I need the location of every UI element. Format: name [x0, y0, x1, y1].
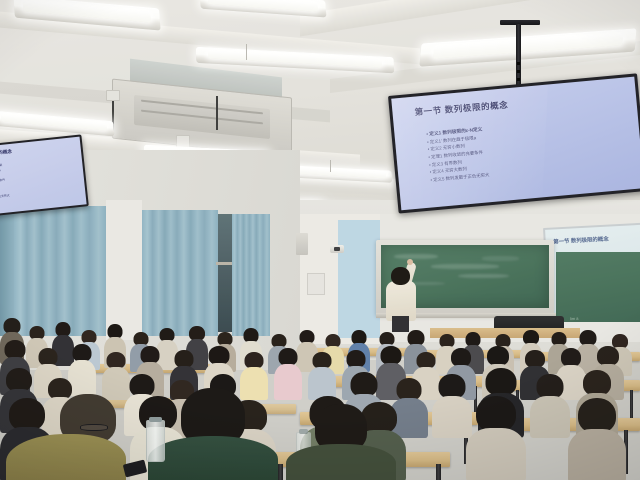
student [530, 374, 570, 434]
foreground-student-left [18, 394, 138, 480]
student [274, 348, 302, 398]
desk-leg [436, 464, 441, 480]
mount-clip [517, 62, 520, 65]
wall-speaker [296, 233, 308, 255]
student [466, 396, 526, 480]
foreground-student-right [290, 404, 400, 480]
ac-support-rod [216, 96, 218, 130]
water-bottle [146, 420, 165, 462]
window-curtain [0, 206, 14, 336]
student [568, 398, 626, 480]
glasses-icon [80, 424, 108, 431]
classroom-camera-icon [330, 245, 344, 253]
slide-bullet-list: 定义1 数列极限的ε-N定义 定义1' 数列在趋于极限a 定义2 无穷小数列 定… [0, 155, 83, 202]
left-projector-screen[interactable]: 第一节 数列极限的概念 定义1 数列极限的ε-N定义 定义1' 数列在趋于极限a… [0, 134, 89, 219]
teacher-hand [407, 259, 413, 265]
window-curtain [14, 206, 106, 336]
chalkboard-writing: lim a [570, 316, 579, 321]
ac-bracket [106, 90, 120, 101]
classroom-photo: 第一节 数列极限的概念 定义1 数列极限的ε-N定义 定义1' 数列在趋于极限a… [0, 0, 640, 480]
window-gap [218, 214, 232, 332]
screen-surface: 第一节 数列极限的概念 定义1 数列极限的ε-N定义 定义1' 数列在趋于极限a… [391, 77, 640, 211]
wall-pier [106, 200, 142, 340]
teacher-head [391, 267, 410, 285]
slide-title: 第一节 数列极限的概念 [553, 234, 609, 245]
mount-clip [517, 78, 520, 81]
student [308, 352, 336, 398]
window-curtain [232, 214, 270, 336]
screen-surface: 第一节 数列极限的概念 定义1 数列极限的ε-N定义 定义1' 数列在趋于极限a… [0, 137, 87, 218]
screen-glare [391, 77, 548, 211]
desk-leg [278, 464, 283, 480]
mount-clip [517, 70, 520, 73]
light-stem [246, 44, 247, 60]
wall-notice [307, 273, 325, 295]
chalkboard-right-panel [556, 252, 640, 322]
window-curtain [142, 210, 218, 336]
light-stem [330, 160, 331, 172]
teacher-torso [386, 281, 416, 321]
foreground-student-center [148, 388, 278, 480]
main-projector-screen[interactable]: 第一节 数列极限的概念 定义1 数列极限的ε-N定义 定义1' 数列在趋于极限a… [388, 73, 640, 213]
slide-title: 第一节 数列极限的概念 [0, 149, 12, 160]
